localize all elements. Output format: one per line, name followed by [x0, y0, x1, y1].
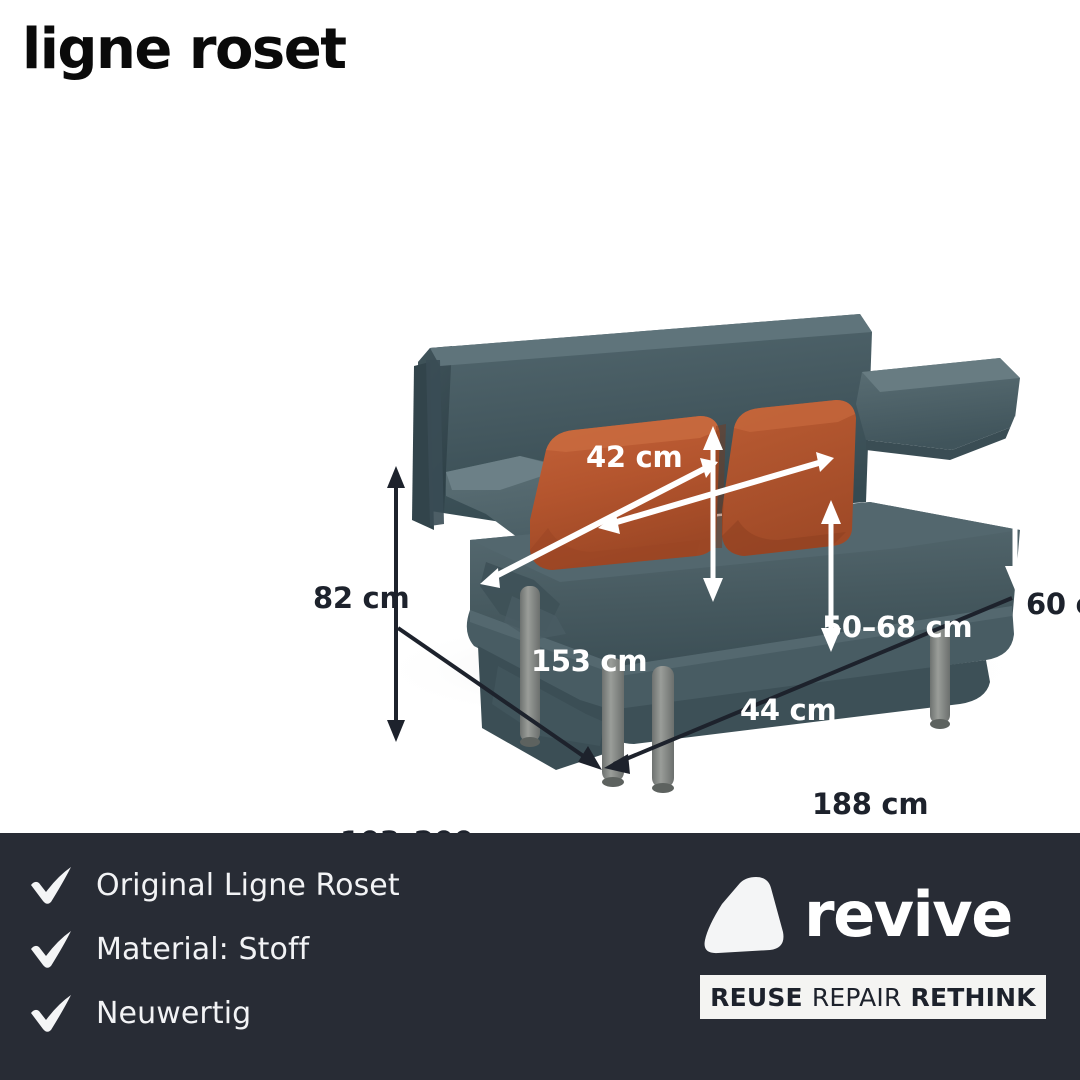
- check-icon: [28, 929, 76, 969]
- tagline-word-repair: REPAIR: [812, 985, 902, 1010]
- sofa-illustration: [0, 110, 1080, 833]
- revive-leaf-mark-icon: [700, 874, 786, 956]
- footer-bar: Original Ligne Roset Material: Stoff Neu…: [0, 833, 1080, 1080]
- dimension-label-seat-depth: 50–68 cm: [822, 613, 972, 642]
- feature-item: Original Ligne Roset: [28, 859, 400, 911]
- dimension-label-backrest-height: 42 cm: [586, 443, 682, 472]
- product-image-page: ligne roset: [0, 0, 1080, 1080]
- dimension-label-arm-height: 60 cm: [1026, 590, 1080, 619]
- ligne-roset-logo: ligne roset: [22, 22, 346, 78]
- tagline-word-rethink: RETHINK: [911, 985, 1036, 1010]
- tagline-word-reuse: REUSE: [710, 985, 803, 1010]
- revive-tagline: REUSE REPAIR RETHINK: [700, 975, 1046, 1019]
- dimension-label-total-width: 188 cm: [812, 790, 928, 819]
- feature-item: Neuwertig: [28, 987, 400, 1039]
- check-icon: [28, 865, 76, 905]
- dimension-label-seat-height: 44 cm: [740, 696, 836, 725]
- dimension-label-seat-width: 153 cm: [531, 647, 647, 676]
- feature-label: Neuwertig: [96, 996, 251, 1031]
- feature-label: Original Ligne Roset: [96, 868, 400, 903]
- dimension-label-height: 82 cm: [313, 584, 409, 613]
- check-icon: [28, 993, 76, 1033]
- revive-brand-block: revive REUSE REPAIR RETHINK: [700, 869, 1046, 1019]
- feature-list: Original Ligne Roset Material: Stoff Neu…: [28, 859, 400, 1039]
- revive-wordmark: revive: [804, 884, 1012, 946]
- feature-item: Material: Stoff: [28, 923, 400, 975]
- revive-logo: revive: [700, 869, 1046, 961]
- feature-label: Material: Stoff: [96, 932, 309, 967]
- product-photo-stage: 82 cm 42 cm 153 cm 50–68 cm 44 cm 60 cm …: [0, 110, 1080, 833]
